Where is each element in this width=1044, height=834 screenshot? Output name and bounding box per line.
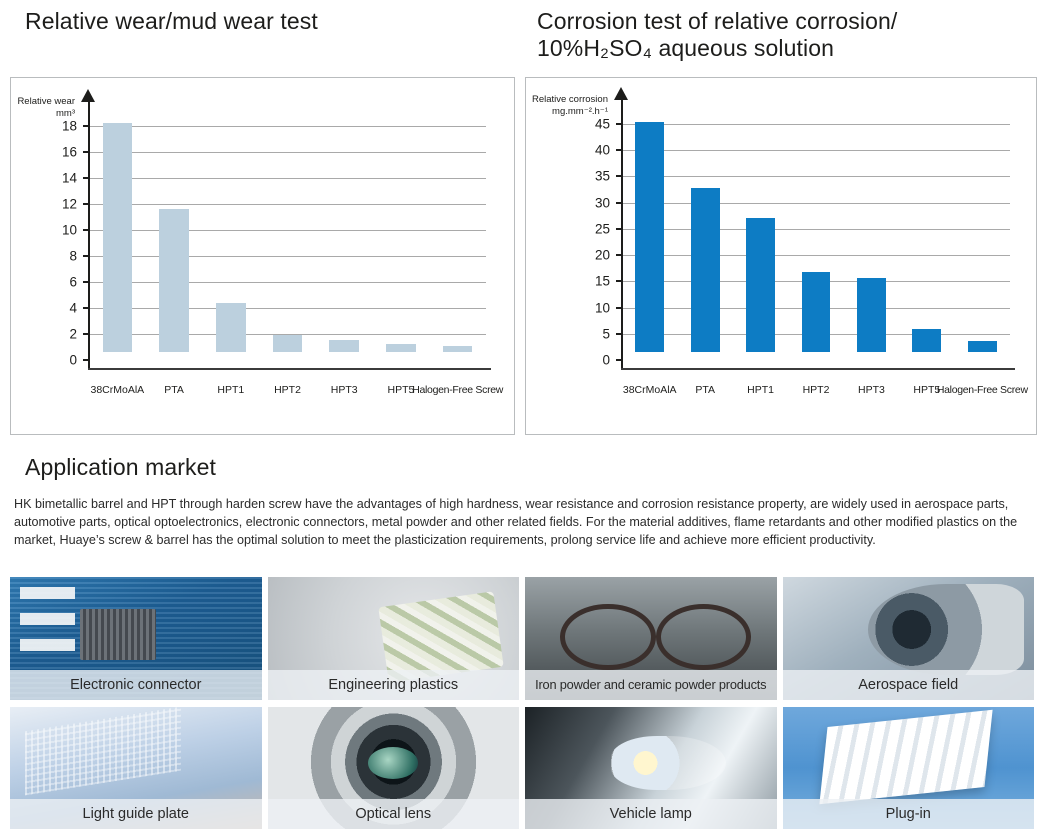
gridline: [89, 152, 486, 153]
corrosion-chart-heading: Corrosion test of relative corrosion/ 10…: [520, 8, 897, 62]
bar: [159, 209, 188, 352]
gridline: [89, 126, 486, 127]
y-axis-tick-label: 5: [570, 326, 610, 341]
y-axis-arrow-icon: [81, 89, 95, 102]
gallery-tile[interactable]: Optical lens: [268, 707, 520, 830]
gallery-tile[interactable]: Electronic connector: [10, 577, 262, 700]
y-axis-tick-label: 0: [570, 353, 610, 368]
wear-chart-panel: Relative wear mm³02468101214161838CrMoAl…: [10, 77, 515, 435]
x-axis-line: [621, 368, 1015, 370]
gridline: [622, 176, 1010, 177]
corrosion-chart-panel: Relative corrosion mg.mm⁻².h⁻¹0510152025…: [525, 77, 1037, 435]
x-axis-category-label: PTA: [164, 384, 184, 396]
corrosion-chart-plot: Relative corrosion mg.mm⁻².h⁻¹0510152025…: [526, 78, 1036, 434]
bar: [329, 340, 358, 352]
gallery-caption: Engineering plastics: [268, 670, 520, 700]
x-axis-category-label: HPT1: [217, 384, 244, 396]
y-axis-tick-label: 12: [37, 197, 77, 212]
gallery-caption: Plug-in: [783, 799, 1035, 829]
x-axis-category-label: HPT5: [388, 384, 415, 396]
y-axis-tick-label: 35: [570, 169, 610, 184]
y-axis-tick-label: 4: [37, 301, 77, 316]
wear-chart-plot: Relative wear mm³02468101214161838CrMoAl…: [11, 78, 514, 434]
gridline: [89, 204, 486, 205]
y-axis-tick-label: 30: [570, 195, 610, 210]
bar: [746, 218, 775, 352]
gallery-caption: Optical lens: [268, 799, 520, 829]
y-axis-tick-label: 10: [37, 223, 77, 238]
y-axis-tick-label: 8: [37, 249, 77, 264]
y-axis-tick-label: 2: [37, 327, 77, 342]
y-axis-line: [88, 102, 90, 370]
bar: [968, 341, 997, 352]
gridline: [89, 256, 486, 257]
y-axis-tick-label: 45: [570, 117, 610, 132]
application-gallery-grid: Electronic connectorEngineering plastics…: [10, 577, 1034, 829]
gallery-tile[interactable]: Iron powder and ceramic powder products: [525, 577, 777, 700]
bar: [386, 344, 415, 352]
y-axis-tick-label: 0: [37, 353, 77, 368]
y-axis-tick-label: 16: [37, 145, 77, 160]
gallery-tile[interactable]: Engineering plastics: [268, 577, 520, 700]
application-market-title: Application market: [25, 454, 216, 481]
gallery-caption: Iron powder and ceramic powder products: [525, 670, 777, 700]
y-axis-tick-label: 10: [570, 300, 610, 315]
x-axis-category-label: PTA: [695, 384, 715, 396]
gallery-caption: Vehicle lamp: [525, 799, 777, 829]
y-axis-arrow-icon: [614, 87, 628, 100]
wear-chart-title: Relative wear/mud wear test: [25, 8, 318, 35]
x-axis-category-label: HPT2: [274, 384, 301, 396]
y-axis-tick-label: 6: [37, 275, 77, 290]
x-axis-line: [88, 368, 491, 370]
x-axis-category-label: HPT3: [331, 384, 358, 396]
gridline: [622, 255, 1010, 256]
application-market-paragraph: HK bimetallic barrel and HPT through har…: [14, 496, 1032, 550]
gallery-caption: Electronic connector: [10, 670, 262, 700]
gallery-tile[interactable]: Light guide plate: [10, 707, 262, 830]
x-axis-category-label: 38CrMoAlA: [91, 384, 145, 396]
bar: [443, 346, 472, 353]
bar: [216, 303, 245, 352]
y-axis-tick-label: 18: [37, 119, 77, 134]
x-axis-category-label: 38CrMoAlA: [623, 384, 677, 396]
gridline: [89, 230, 486, 231]
gallery-caption: Light guide plate: [10, 799, 262, 829]
y-axis-caption: Relative wear mm³: [0, 96, 75, 119]
bar: [273, 335, 302, 352]
bar: [103, 123, 132, 352]
gridline: [89, 308, 486, 309]
x-axis-category-label: HPT1: [747, 384, 774, 396]
x-axis-category-label: Halogen-Free Screw: [937, 384, 1028, 396]
x-axis-category-label: Halogen-Free Screw: [412, 384, 503, 396]
gallery-tile[interactable]: Vehicle lamp: [525, 707, 777, 830]
application-market-heading: Application market: [8, 454, 216, 481]
bar: [691, 188, 720, 352]
y-axis-tick-label: 14: [37, 171, 77, 186]
page-root: Relative wear/mud wear test Corrosion te…: [0, 0, 1044, 834]
wear-chart-heading: Relative wear/mud wear test: [8, 8, 318, 35]
bar: [857, 278, 886, 352]
gridline: [622, 229, 1010, 230]
x-axis-category-label: HPT2: [803, 384, 830, 396]
y-axis-tick-label: 25: [570, 221, 610, 236]
bar: [912, 329, 941, 352]
y-axis-caption: Relative corrosion mg.mm⁻².h⁻¹: [498, 94, 608, 117]
bar: [802, 272, 831, 352]
charts-row: Relative wear/mud wear test Corrosion te…: [8, 6, 1036, 436]
y-axis-tick-label: 20: [570, 248, 610, 263]
gallery-tile[interactable]: Aerospace field: [783, 577, 1035, 700]
corrosion-chart-title: Corrosion test of relative corrosion/ 10…: [537, 8, 897, 62]
gridline: [622, 150, 1010, 151]
gridline: [622, 203, 1010, 204]
bar: [635, 122, 664, 352]
y-axis-line: [621, 100, 623, 370]
x-axis-category-label: HPT3: [858, 384, 885, 396]
y-axis-tick-label: 15: [570, 274, 610, 289]
gallery-tile[interactable]: Plug-in: [783, 707, 1035, 830]
gridline: [89, 178, 486, 179]
gallery-caption: Aerospace field: [783, 670, 1035, 700]
y-axis-tick-label: 40: [570, 143, 610, 158]
gridline: [622, 124, 1010, 125]
gridline: [89, 282, 486, 283]
